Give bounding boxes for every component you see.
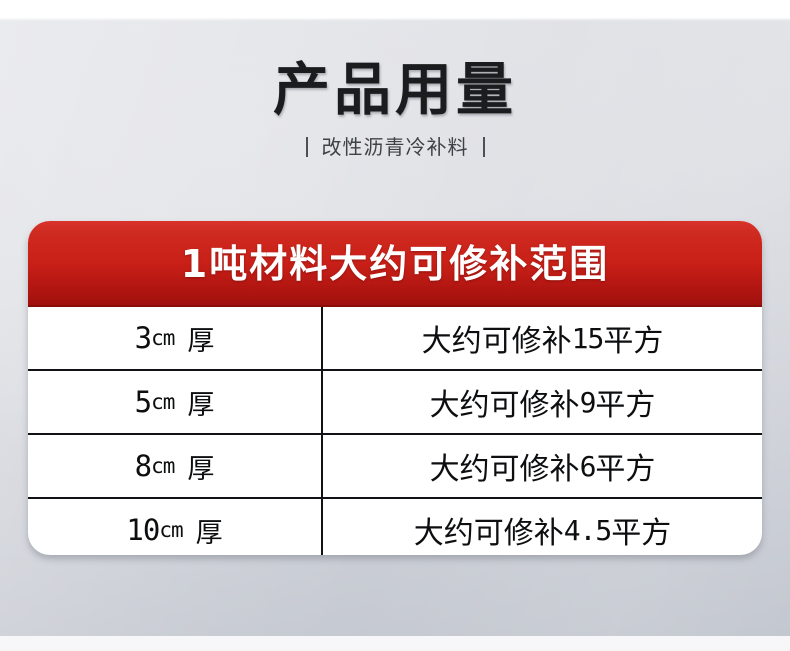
table-cell-coverage: 大约可修补6平方 [323,435,762,497]
table-cell-coverage: 大约可修补15平方 [323,307,762,369]
coverage-suffix: 平方 [595,380,655,424]
thickness-word: 厚 [196,511,223,550]
coverage-table-banner: 1吨材料大约可修补范围 [28,221,762,307]
coverage-suffix: 平方 [595,444,655,488]
coverage-value: 9 [580,386,596,419]
table-cell-thickness: 8cm厚 [28,435,323,497]
thickness-value: 8 [135,449,151,483]
thickness-unit: cm [151,326,174,350]
thickness-value: 3 [135,321,151,355]
heading-block: 产品用量 改性沥青冷补料 [0,62,790,157]
subtitle-text: 改性沥青冷补料 [322,137,469,157]
table-cell-thickness: 3cm厚 [28,307,323,369]
subtitle-left-divider-icon [306,137,308,157]
thickness-unit: cm [151,390,174,414]
subtitle-right-divider-icon [483,137,485,157]
thickness-unit: cm [159,518,182,542]
bottom-strip [0,636,790,651]
thickness-value: 5 [135,385,151,419]
table-cell-thickness: 10cm厚 [28,499,323,555]
table-cell-coverage: 大约可修补9平方 [323,371,762,433]
coverage-table-banner-label: 1吨材料大约可修补范围 [181,245,609,283]
thickness-word: 厚 [187,383,214,422]
coverage-value: 6 [580,450,596,483]
table-row: 3cm厚 大约可修补15平方 [28,307,762,371]
table-row: 5cm厚 大约可修补9平方 [28,371,762,435]
background-top-edge [0,18,790,21]
coverage-value: 15 [572,322,604,355]
coverage-suffix: 平方 [603,316,663,360]
page-title: 产品用量 [0,62,790,119]
coverage-prefix: 大约可修补 [430,380,580,424]
coverage-suffix: 平方 [611,508,671,552]
table-row: 10cm厚 大约可修补4.5平方 [28,499,762,555]
coverage-prefix: 大约可修补 [414,508,564,552]
thickness-value: 10 [126,513,159,547]
coverage-table-body: 3cm厚 大约可修补15平方 5cm厚 大约可修补9平方 8cm厚 [28,307,762,555]
table-cell-thickness: 5cm厚 [28,371,323,433]
product-usage-infographic: 产品用量 改性沥青冷补料 1吨材料大约可修补范围 3cm厚 大约可修补15平方 … [0,0,790,651]
coverage-prefix: 大约可修补 [422,316,572,360]
thickness-word: 厚 [187,447,214,486]
thickness-word: 厚 [187,319,214,358]
thickness-unit: cm [151,454,174,478]
table-row: 8cm厚 大约可修补6平方 [28,435,762,499]
coverage-table-card: 1吨材料大约可修补范围 3cm厚 大约可修补15平方 5cm厚 大约可修补9平方 [28,221,762,555]
coverage-prefix: 大约可修补 [430,444,580,488]
coverage-value: 4.5 [564,514,612,547]
table-cell-coverage: 大约可修补4.5平方 [323,499,762,555]
subtitle-row: 改性沥青冷补料 [0,137,790,157]
